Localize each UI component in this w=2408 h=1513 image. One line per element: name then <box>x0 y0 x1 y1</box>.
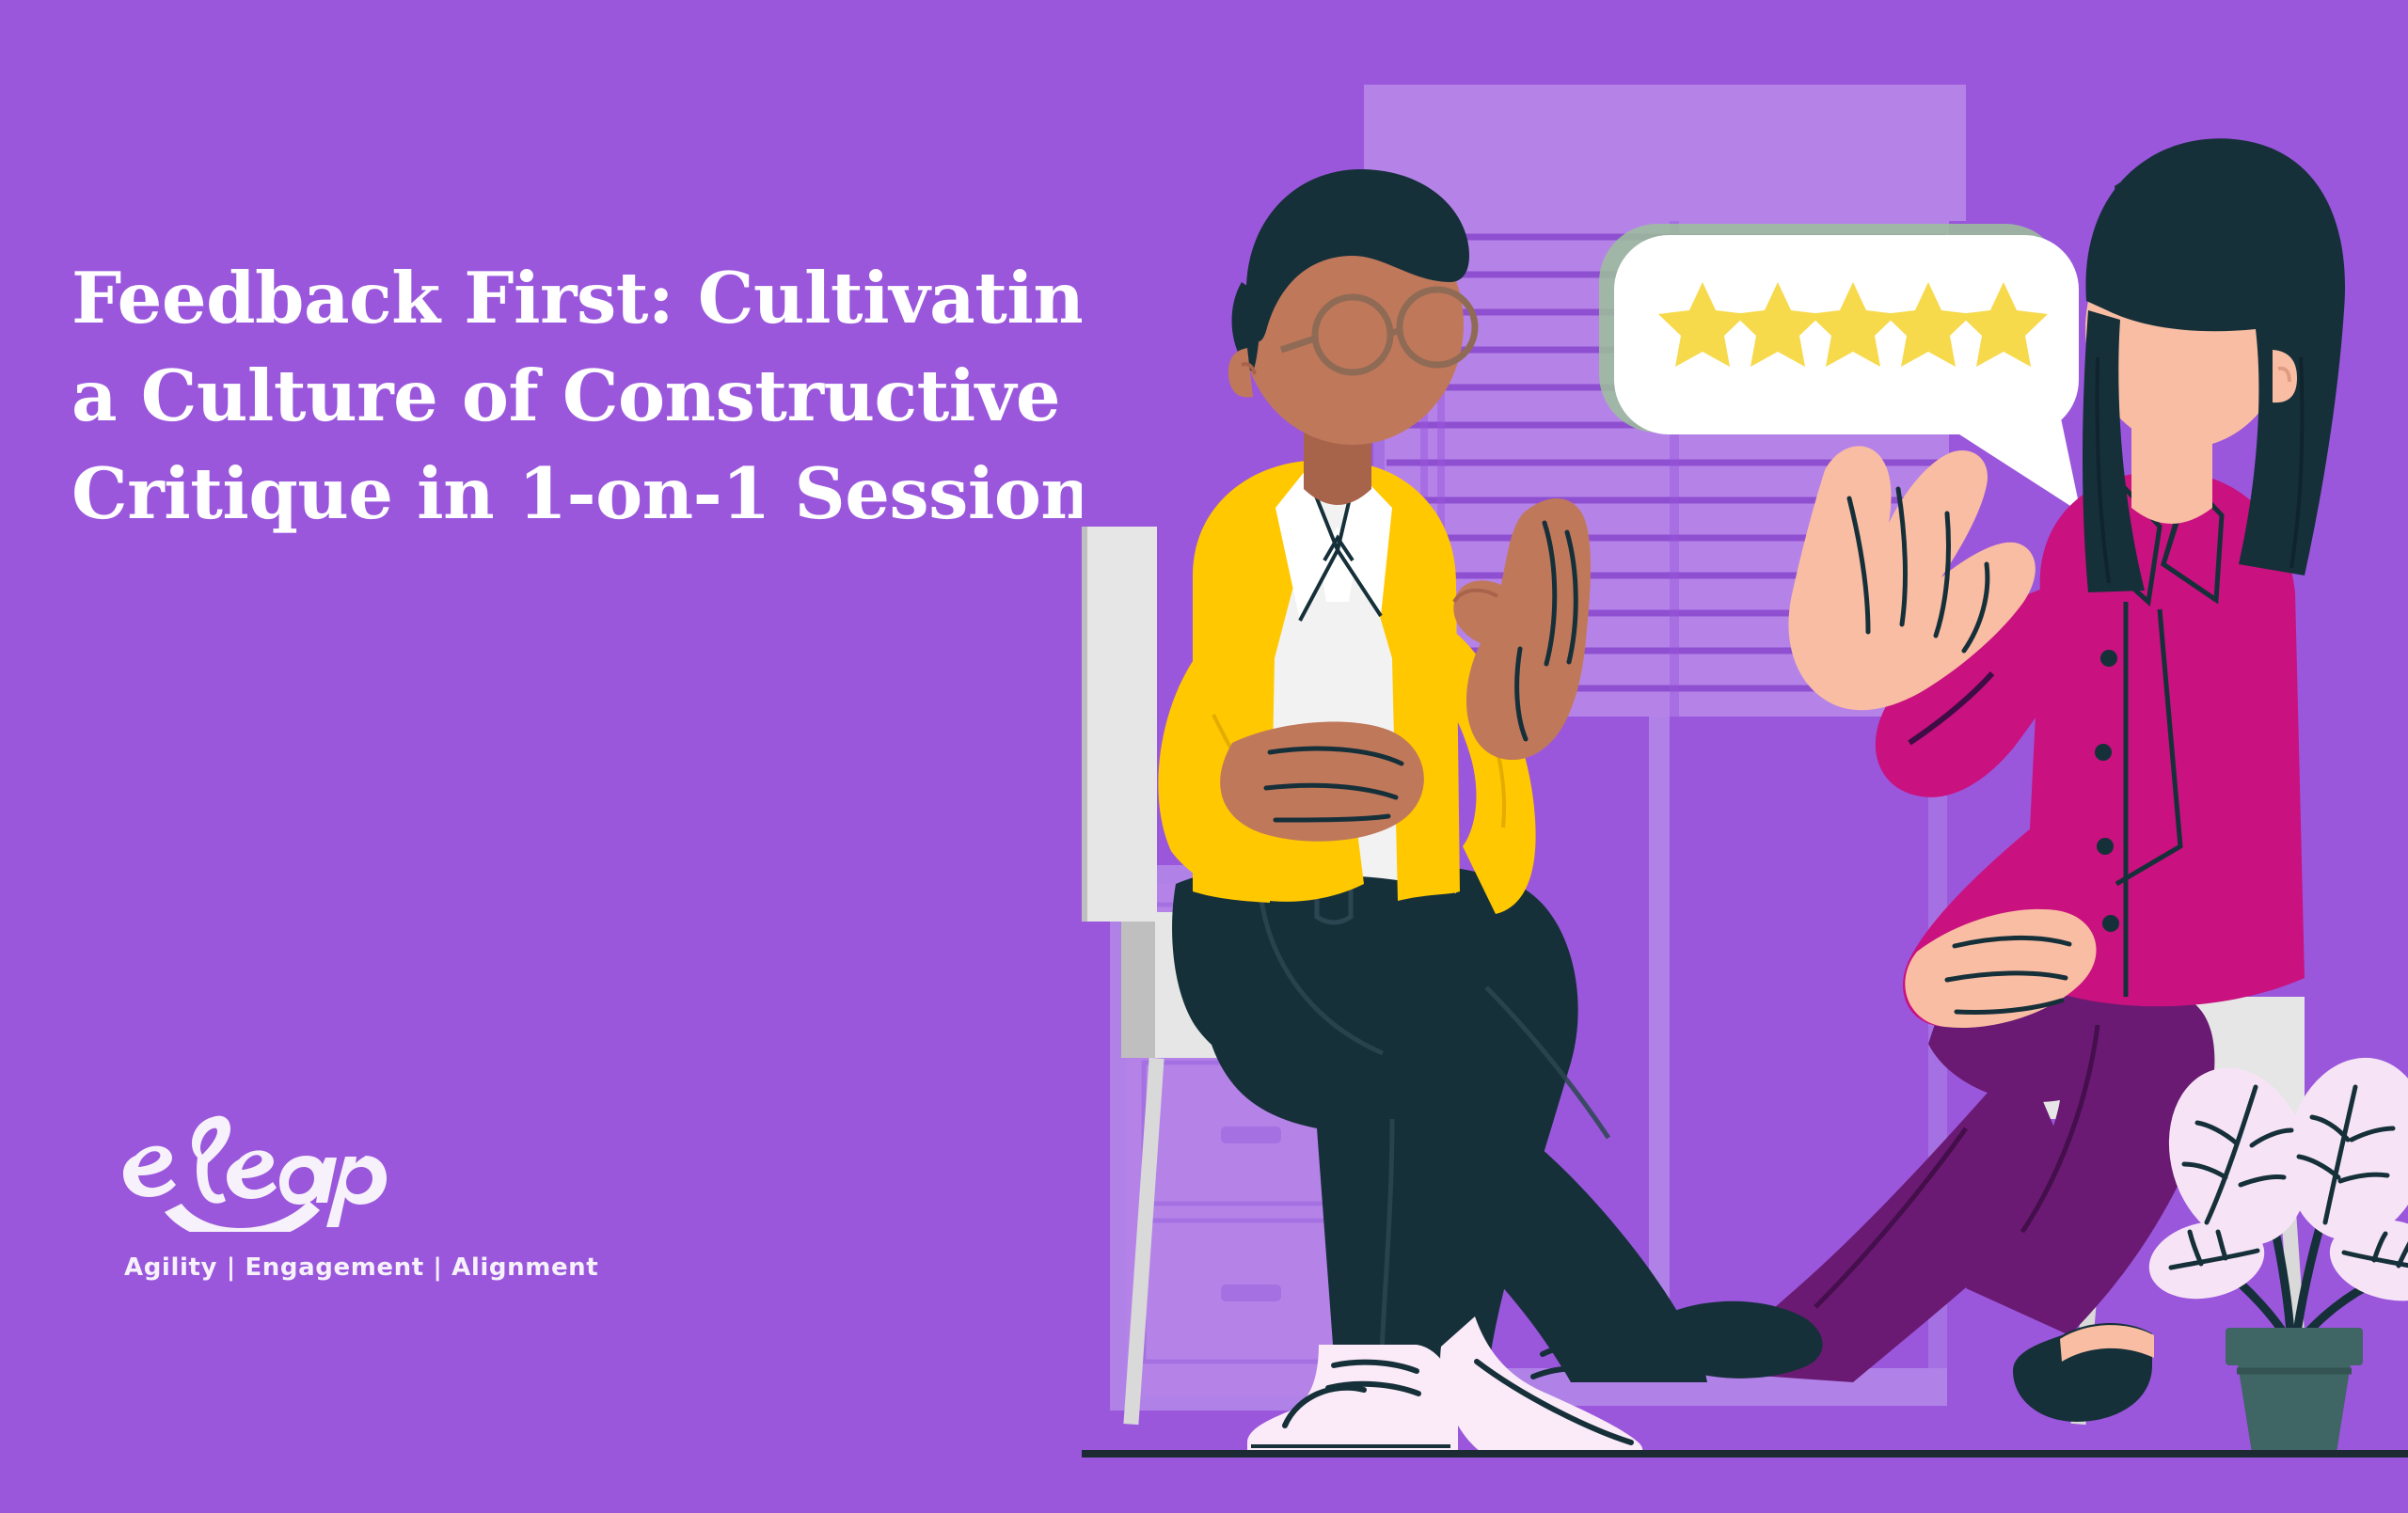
page-title: Feedback First: Cultivating a Culture of… <box>71 249 1181 543</box>
floor <box>1082 1458 2408 1513</box>
blog-hero-banner: Feedback First: Cultivating a Culture of… <box>0 0 2408 1513</box>
brand-tagline: Agility | Engagement | Alignment <box>124 1253 598 1282</box>
eleap-logo-icon[interactable] <box>122 1114 423 1232</box>
left-hand <box>1220 722 1424 842</box>
brand-logo-block[interactable]: Agility | Engagement | Alignment <box>66 1114 555 1312</box>
window-valance <box>1364 85 1966 221</box>
floor-line <box>1082 1450 2408 1458</box>
text-column: Feedback First: Cultivating a Culture of… <box>66 0 1091 1513</box>
hero-illustration <box>1082 0 2408 1513</box>
